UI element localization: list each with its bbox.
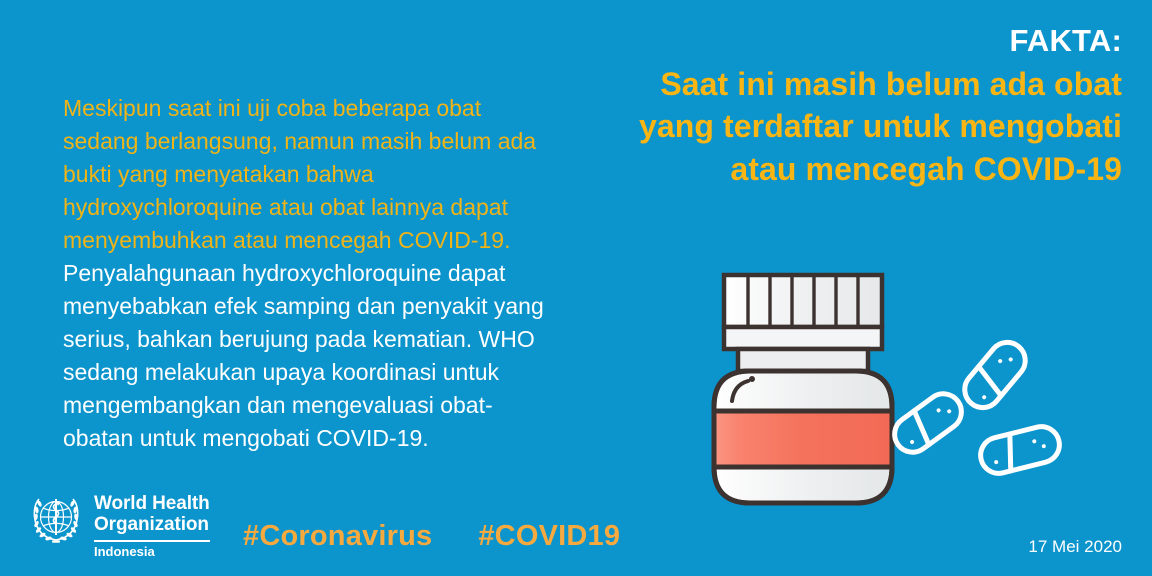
body-line: serius, bahkan berujung pada kematian. W… bbox=[63, 323, 593, 356]
hashtag-group: #Coronavirus #COVID19 bbox=[243, 520, 620, 553]
headline-line: yang terdaftar untuk mengobati bbox=[582, 105, 1122, 148]
body-line: menyembuhkan atau mencegah COVID-19. bbox=[63, 224, 593, 257]
headline-line: Saat ini masih belum ada obat bbox=[582, 63, 1122, 106]
headline-text: Saat ini masih belum ada obat yang terda… bbox=[582, 63, 1122, 191]
who-wordmark-line: Organization bbox=[94, 514, 210, 535]
body-line: obatan untuk mengobati COVID-19. bbox=[63, 422, 593, 455]
who-logo: World Health Organization Indonesia bbox=[27, 491, 210, 559]
body-line: menyebabkan efek samping dan penyakit ya… bbox=[63, 290, 593, 323]
poster-canvas: FAKTA: Saat ini masih belum ada obat yan… bbox=[0, 0, 1152, 576]
body-line: sedang melakukan upaya koordinasi untuk bbox=[63, 356, 593, 389]
body-paragraph-primary: Meskipun saat ini uji coba beberapa obat… bbox=[63, 92, 593, 257]
hashtag-coronavirus: #Coronavirus bbox=[243, 520, 432, 553]
capsule bbox=[977, 423, 1063, 477]
pill-bottle-illustration bbox=[690, 255, 1110, 520]
bottle-neck bbox=[738, 349, 868, 371]
body-line: hydroxychloroquine atau obat lainnya dap… bbox=[63, 191, 593, 224]
body-line: sedang berlangsung, namun masih belum ad… bbox=[63, 125, 593, 158]
who-divider bbox=[94, 540, 210, 542]
fakta-label: FAKTA: bbox=[582, 24, 1122, 59]
body-line: Penyalahgunaan hydroxychloroquine dapat bbox=[63, 257, 593, 290]
who-country-label: Indonesia bbox=[94, 545, 210, 559]
body-line: bukti yang menyatakan bahwa bbox=[63, 158, 593, 191]
capsule-group bbox=[887, 335, 1063, 477]
headline-line: atau mencegah COVID-19 bbox=[582, 148, 1122, 191]
who-wordmark-line: World Health bbox=[94, 493, 210, 514]
bottle-cap bbox=[724, 275, 882, 349]
body-line: Meskipun saat ini uji coba beberapa obat bbox=[63, 92, 593, 125]
body-paragraph-secondary: Penyalahgunaan hydroxychloroquine dapat … bbox=[63, 257, 593, 455]
capsule bbox=[887, 387, 968, 460]
hashtag-covid19: #COVID19 bbox=[478, 520, 620, 553]
date-stamp: 17 Mei 2020 bbox=[1028, 537, 1122, 557]
bottle-body bbox=[714, 371, 892, 503]
body-copy: Meskipun saat ini uji coba beberapa obat… bbox=[63, 92, 593, 455]
body-line: mengembangkan dan mengevaluasi obat- bbox=[63, 389, 593, 422]
who-emblem-icon bbox=[27, 491, 85, 549]
headline-block: FAKTA: Saat ini masih belum ada obat yan… bbox=[582, 24, 1122, 190]
capsule bbox=[957, 335, 1032, 415]
who-wordmark: World Health Organization Indonesia bbox=[94, 491, 210, 559]
